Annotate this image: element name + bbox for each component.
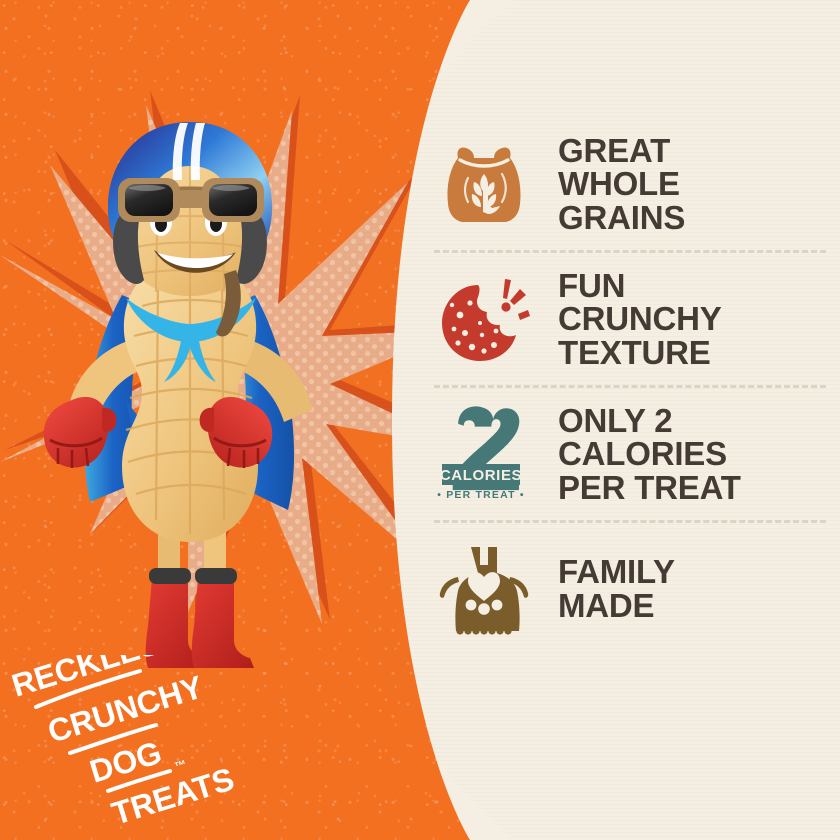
brand-tagline: RECKLESSLY CRUNCHY DOG TREATS ™	[8, 655, 238, 835]
feature-row-whole-grains: GREAT WHOLE GRAINS	[432, 118, 828, 250]
feature-divider-2	[434, 385, 826, 388]
crunch-spark-lines	[501, 279, 530, 320]
trademark-symbol: ™	[173, 757, 189, 774]
feature-label-calories: ONLY 2 CALORIES PER TREAT	[558, 404, 741, 505]
two-calories-badge-icon: CALORIES • PER TREAT •	[432, 402, 536, 506]
boots	[146, 568, 254, 668]
feature-row-calories: CALORIES • PER TREAT • ONLY 2 CALORIES P…	[432, 388, 828, 520]
calories-badge-word: CALORIES	[440, 467, 522, 484]
feature-label-whole-grains: GREAT WHOLE GRAINS	[558, 134, 685, 235]
apron-paw-icon	[432, 537, 536, 641]
bitten-cookie-icon	[432, 267, 536, 371]
peanut-superhero-mascot	[30, 110, 350, 670]
feature-row-family-made: FAMILY MADE	[432, 523, 828, 655]
per-treat-badge-word: • PER TREAT •	[437, 489, 525, 501]
feature-label-family-made: FAMILY MADE	[558, 555, 675, 622]
product-feature-poster: RECKLESSLY CRUNCHY DOG TREATS ™	[0, 0, 840, 840]
feature-row-crunchy-texture: FUN CRUNCHY TEXTURE	[432, 253, 828, 385]
grain-sack-icon	[432, 132, 536, 236]
feature-label-crunchy-texture: FUN CRUNCHY TEXTURE	[558, 269, 722, 370]
feature-list: GREAT WHOLE GRAINS	[432, 118, 828, 655]
feature-divider-3	[434, 520, 826, 523]
feature-divider-1	[434, 250, 826, 253]
